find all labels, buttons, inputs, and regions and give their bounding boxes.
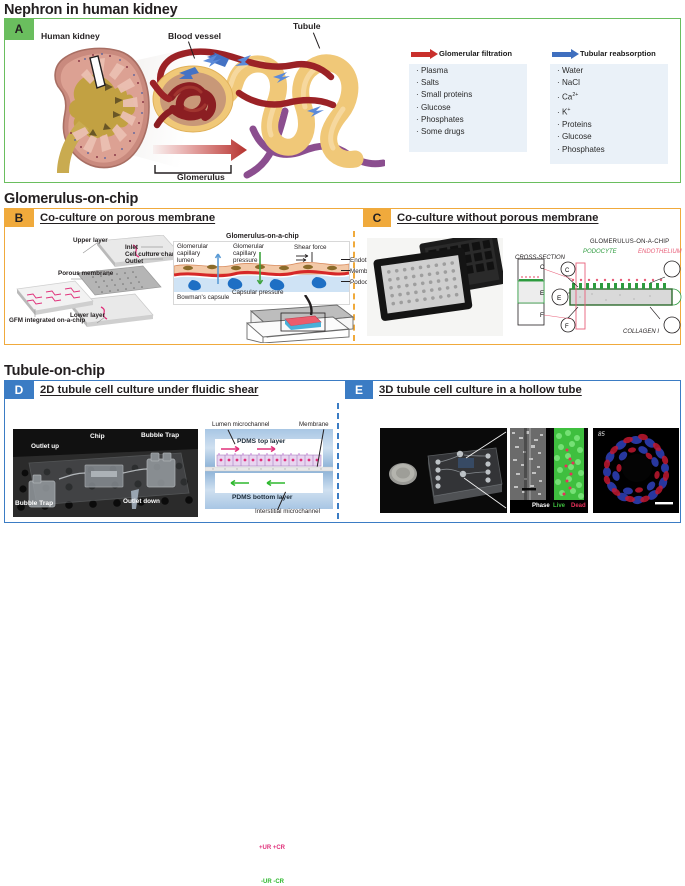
label-endothelium-c: ENDOTHELIUM [638,249,682,256]
panel-c-chip-title: GLOMERULUS-ON-A-CHIP [590,239,669,246]
svg-text:F: F [540,313,544,319]
panel-e-heading: 3D tubule cell culture in a hollow tube [379,384,582,396]
label-shear-force: Shear force [294,244,327,251]
legend-item: Glucose [416,102,472,114]
svg-text:E: E [557,295,562,302]
micrograph-pair [510,428,588,513]
photo-label-bubble-trap-right: Bubble Trap [141,432,179,440]
legend-item: Some drugs [416,126,472,138]
label-bowmans-capsule: Bowman's capsule [177,294,229,301]
label-flow-bottom: -UR -CR [261,879,284,886]
panel-bc-box: B Co-culture on porous membrane C Co-cul… [4,208,681,345]
label-glomerulus: Glomerulus [177,172,225,182]
photo-label-chip: Chip [90,433,105,441]
label-flow-top: +UR +CR [259,845,285,852]
legend-list-reabsorption: Water NaCl Ca2+ K+ Proteins Glucose Phos… [557,65,605,156]
legend-item: Glucose [557,131,605,143]
panel-c-heading: Co-culture without porous membrane [397,212,598,224]
panel-e-badge: E [345,380,373,399]
legend-item: Salts [416,77,472,89]
legend-item: Plasma [416,65,472,77]
label-gfm-chip: GFM integrated on-a-chip [9,317,85,324]
label-porous-membrane: Porous membrane [58,271,113,278]
section-title-glomerulus: Glomerulus-on-chip [4,190,138,208]
chip-schematic-c: C E F C E F [510,257,682,337]
legend-item: Small proteins [416,89,472,101]
section-title-glomerulus-text: Glomerulus-on-chip [4,191,138,207]
label-outlet: Outlet [125,258,143,265]
chip-3d-schematic [237,295,355,343]
panel-a-box: A [4,18,681,183]
label-tubule: Tubule [293,21,321,31]
label-interstitial-microchannel: Interstitial microchannel [255,508,320,515]
reabsorption-arrow-icon [552,52,572,57]
legend-item: Proteins [557,119,605,131]
photo-label-outlet-down: Outlet down [123,498,160,505]
label-blood-vessel: Blood vessel [168,31,221,41]
legend-title-reabsorption: Tubular reabsorption [580,49,656,58]
panel-d-badge: D [4,380,34,399]
micrograph-label-phase: Phase [532,503,550,509]
leader-membrane [341,270,350,271]
label-pdms-top: PDMS top layer [237,438,285,446]
legend-item: Phosphates [416,114,472,126]
nephron-illustration [135,33,385,183]
panel-c-badge: C [363,208,391,227]
confocal-scale-label: 85 [598,432,605,438]
section-title-tubule-text: Tubule-on-chip [4,363,105,379]
svg-text:F: F [565,324,569,330]
label-capillary-lumen: Glomerular capillary lumen [177,244,215,265]
filtration-arrow-icon [411,52,431,57]
microplate-photo [367,238,503,336]
micrograph-label-dead: Dead [571,503,586,509]
cross-section-title: Glomerulus-on-a-chip [226,233,299,241]
legend-item: Ca2+ [557,89,605,104]
label-upper-layer: Upper layer [73,238,108,245]
section-title-tubule: Tubule-on-chip [4,362,105,380]
legend-item: K+ [557,104,605,119]
hollow-tube-device-photo [380,428,507,513]
label-lumen-microchannel: Lumen microchannel [212,421,269,428]
svg-text:E: E [540,291,544,297]
label-capillary-pressure: Glomerular capillary pressure [233,244,273,265]
confocal-image [593,428,679,513]
panel-b-heading: Co-culture on porous membrane [40,212,215,224]
legend-item: NaCl [557,77,605,89]
svg-text:C: C [565,268,570,274]
label-membrane-d: Membrane [299,421,329,428]
panel-de-box: D 2D tubule cell culture under fluidic s… [4,380,681,523]
panel-b-badge: B [4,208,34,227]
leader-endothelium [341,259,350,260]
legend-list-filtration: Plasma Salts Small proteins Glucose Phos… [416,65,472,138]
panel-de-divider [337,403,339,519]
photo-label-outlet-up: Outlet up [31,443,59,450]
panel-d-heading: 2D tubule cell culture under fluidic she… [40,384,258,396]
svg-text:C: C [540,265,545,271]
legend-item: Phosphates [557,144,605,156]
photo-label-bubble-trap-left: Bubble Trap [15,500,53,508]
micrograph-label-live: Live [553,503,565,509]
legend-title-filtration: Glomerular filtration [439,49,512,58]
panel-a-badge: A [4,18,34,40]
leader-podocyte [341,281,350,282]
label-podocyte-c: PODOCYTE [583,249,617,256]
label-human-kidney: Human kidney [41,31,100,41]
legend-item: Water [557,65,605,77]
figure-root: Nephron in human kidney A [0,0,685,527]
